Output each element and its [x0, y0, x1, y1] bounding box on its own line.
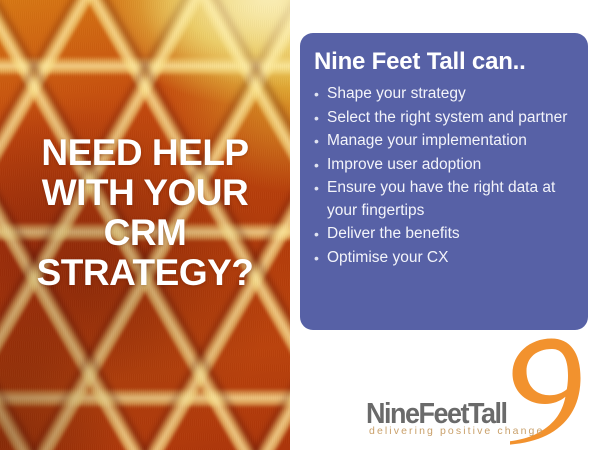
capabilities-list: Shape your strategy Select the right sys… — [313, 83, 576, 269]
marketing-slide: NEED HELP WITH YOUR CRM STRATEGY? Nine F… — [0, 0, 600, 450]
logo-tagline: delivering positive change — [369, 425, 544, 437]
list-item: Shape your strategy — [313, 83, 576, 106]
list-item: Select the right system and partner — [313, 107, 576, 130]
capabilities-panel: Nine Feet Tall can.. Shape your strategy… — [300, 33, 588, 330]
slide-headline: NEED HELP WITH YOUR CRM STRATEGY? — [0, 133, 290, 293]
list-item: Ensure you have the right data at your f… — [313, 177, 576, 222]
nine-feet-tall-logo: NineFeetTall delivering positive change — [366, 336, 591, 446]
panel-heading: Nine Feet Tall can.. — [314, 47, 576, 77]
list-item: Manage your implementation — [313, 130, 576, 153]
list-item: Deliver the benefits — [313, 223, 576, 246]
list-item: Optimise your CX — [313, 247, 576, 270]
list-item: Improve user adoption — [313, 154, 576, 177]
